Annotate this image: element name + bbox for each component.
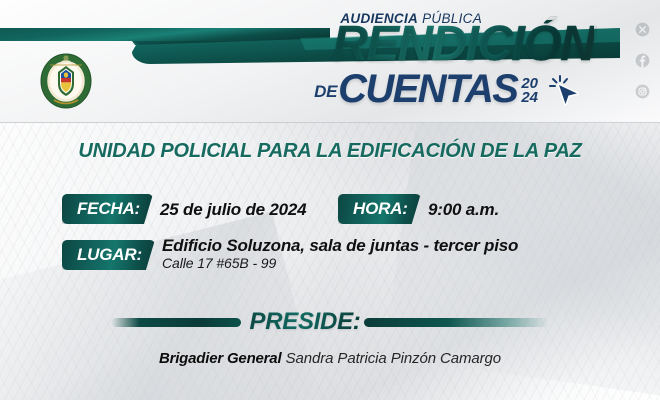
preside-heading-row: PRESIDE: <box>0 305 660 339</box>
preside-heading: PRESIDE: <box>250 308 361 336</box>
value-lugar-address: Calle 17 #65B - 99 <box>162 255 276 271</box>
speaker-rank: Brigadier General <box>159 350 281 367</box>
instagram-icon[interactable] <box>635 84 650 99</box>
label-hora: HORA: <box>338 194 421 224</box>
label-fecha: FECHA: <box>62 194 153 224</box>
x-twitter-icon[interactable] <box>635 22 650 37</box>
unit-title: UNIDAD POLICIAL PARA LA EDIFICACIÓN DE L… <box>0 140 660 163</box>
year-badge: 20 24 <box>521 77 538 106</box>
title-cuentas: CUENTAS <box>338 70 517 108</box>
value-hora: 9:00 a.m. <box>428 200 499 220</box>
preside-bar-left <box>111 318 241 327</box>
header-divider <box>0 122 660 123</box>
row-lugar: LUGAR: Edificio Soluzona, sala de juntas… <box>0 236 660 282</box>
speaker-name: Sandra Patricia Pinzón Camargo <box>286 350 501 367</box>
mouse-cursor-click-icon <box>546 72 580 106</box>
year-bottom: 24 <box>521 91 538 105</box>
title-de: DE <box>314 82 337 102</box>
label-lugar: LUGAR: <box>62 240 155 270</box>
preside-bar-right <box>364 318 549 327</box>
event-info: FECHA: 25 de julio de 2024 HORA: 9:00 a.… <box>0 190 660 282</box>
value-fecha: 25 de julio de 2024 <box>160 200 306 220</box>
row-fecha-hora: FECHA: 25 de julio de 2024 HORA: 9:00 a.… <box>0 190 660 236</box>
value-lugar: Edificio Soluzona, sala de juntas - terc… <box>162 236 518 256</box>
facebook-icon[interactable] <box>635 53 650 68</box>
title-cuentas-row: DE CUENTAS 20 24 <box>314 70 538 108</box>
social-icons <box>635 22 650 99</box>
policia-nacional-colombia-emblem <box>38 52 94 110</box>
rendicion-de-cuentas-poster: AUDIENCIA PÚBLICA RENDICIÓN DE CUENTAS 2… <box>0 0 660 400</box>
title-block: AUDIENCIA PÚBLICA RENDICIÓN DE CUENTAS 2… <box>178 6 598 118</box>
speaker-line: Brigadier General Sandra Patricia Pinzón… <box>0 350 660 367</box>
title-rendicion: RENDICIÓN <box>333 20 594 69</box>
poster-header: AUDIENCIA PÚBLICA RENDICIÓN DE CUENTAS 2… <box>0 0 660 123</box>
